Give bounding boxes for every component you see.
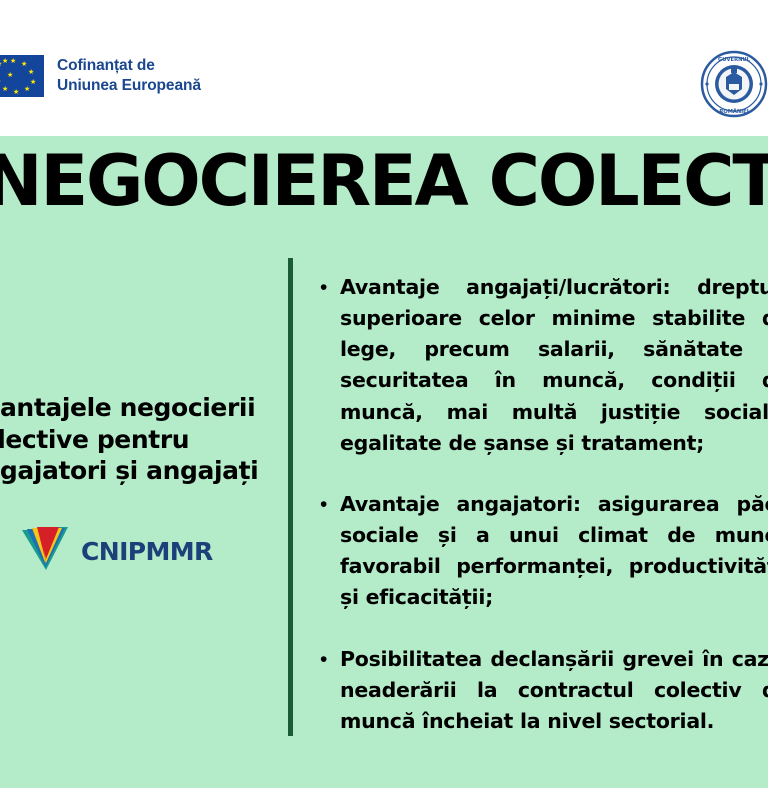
eu-emblem-line1: Cofinanțat de: [57, 56, 201, 76]
left-heading-line2: colective pentru: [0, 424, 266, 456]
left-heading-line1: Avantajele negocierii: [0, 392, 266, 424]
list-item: • Posibilitatea declanșării grevei în ca…: [320, 644, 768, 737]
cnipmmr-logo: CNIPMMR: [20, 524, 213, 578]
eu-emblem: ★ ★ ★ ★ ★ ★ ★ ★ ★ ★ ★ ★ Cofinanțat de Un…: [0, 55, 201, 97]
cnipmmr-wordmark: CNIPMMR: [81, 537, 213, 566]
bullet-list: • Avantaje angajați/lucrători: drepturi …: [320, 272, 768, 767]
eu-emblem-line2: Uniunea Europeană: [57, 76, 201, 96]
bullet-text: Avantaje angajați/lucrători: drepturi su…: [340, 272, 768, 459]
bullet-marker-icon: •: [320, 644, 340, 737]
eu-emblem-text: Cofinanțat de Uniunea Europeană: [57, 56, 201, 97]
bullet-text: Posibilitatea declanșării grevei în cazu…: [340, 644, 768, 737]
cnipmmr-logo-icon: [20, 524, 72, 578]
list-item: • Avantaje angajați/lucrători: drepturi …: [320, 272, 768, 459]
left-column: Avantajele negocierii colective pentru a…: [0, 392, 266, 487]
svg-text:GUVERNUL: GUVERNUL: [718, 57, 751, 63]
left-heading-line3: angajatori și angajați: [0, 455, 266, 487]
list-item: • Avantaje angajatori: asigurarea păcii …: [320, 489, 768, 614]
bullet-marker-icon: •: [320, 489, 340, 614]
bullet-marker-icon: •: [320, 272, 340, 459]
eu-flag-icon: ★ ★ ★ ★ ★ ★ ★ ★ ★ ★ ★ ★: [0, 55, 44, 97]
page-title: NEGOCIEREA COLECTIVĂ: [0, 146, 768, 216]
romanian-government-seal-icon: GUVERNUL ROMÂNIEI: [700, 50, 768, 118]
vertical-divider: [288, 258, 293, 736]
svg-text:ROMÂNIEI: ROMÂNIEI: [719, 108, 748, 115]
slide-canvas: ★ ★ ★ ★ ★ ★ ★ ★ ★ ★ ★ ★ Cofinanțat de Un…: [0, 0, 768, 788]
bullet-text: Avantaje angajatori: asigurarea păcii so…: [340, 489, 768, 614]
